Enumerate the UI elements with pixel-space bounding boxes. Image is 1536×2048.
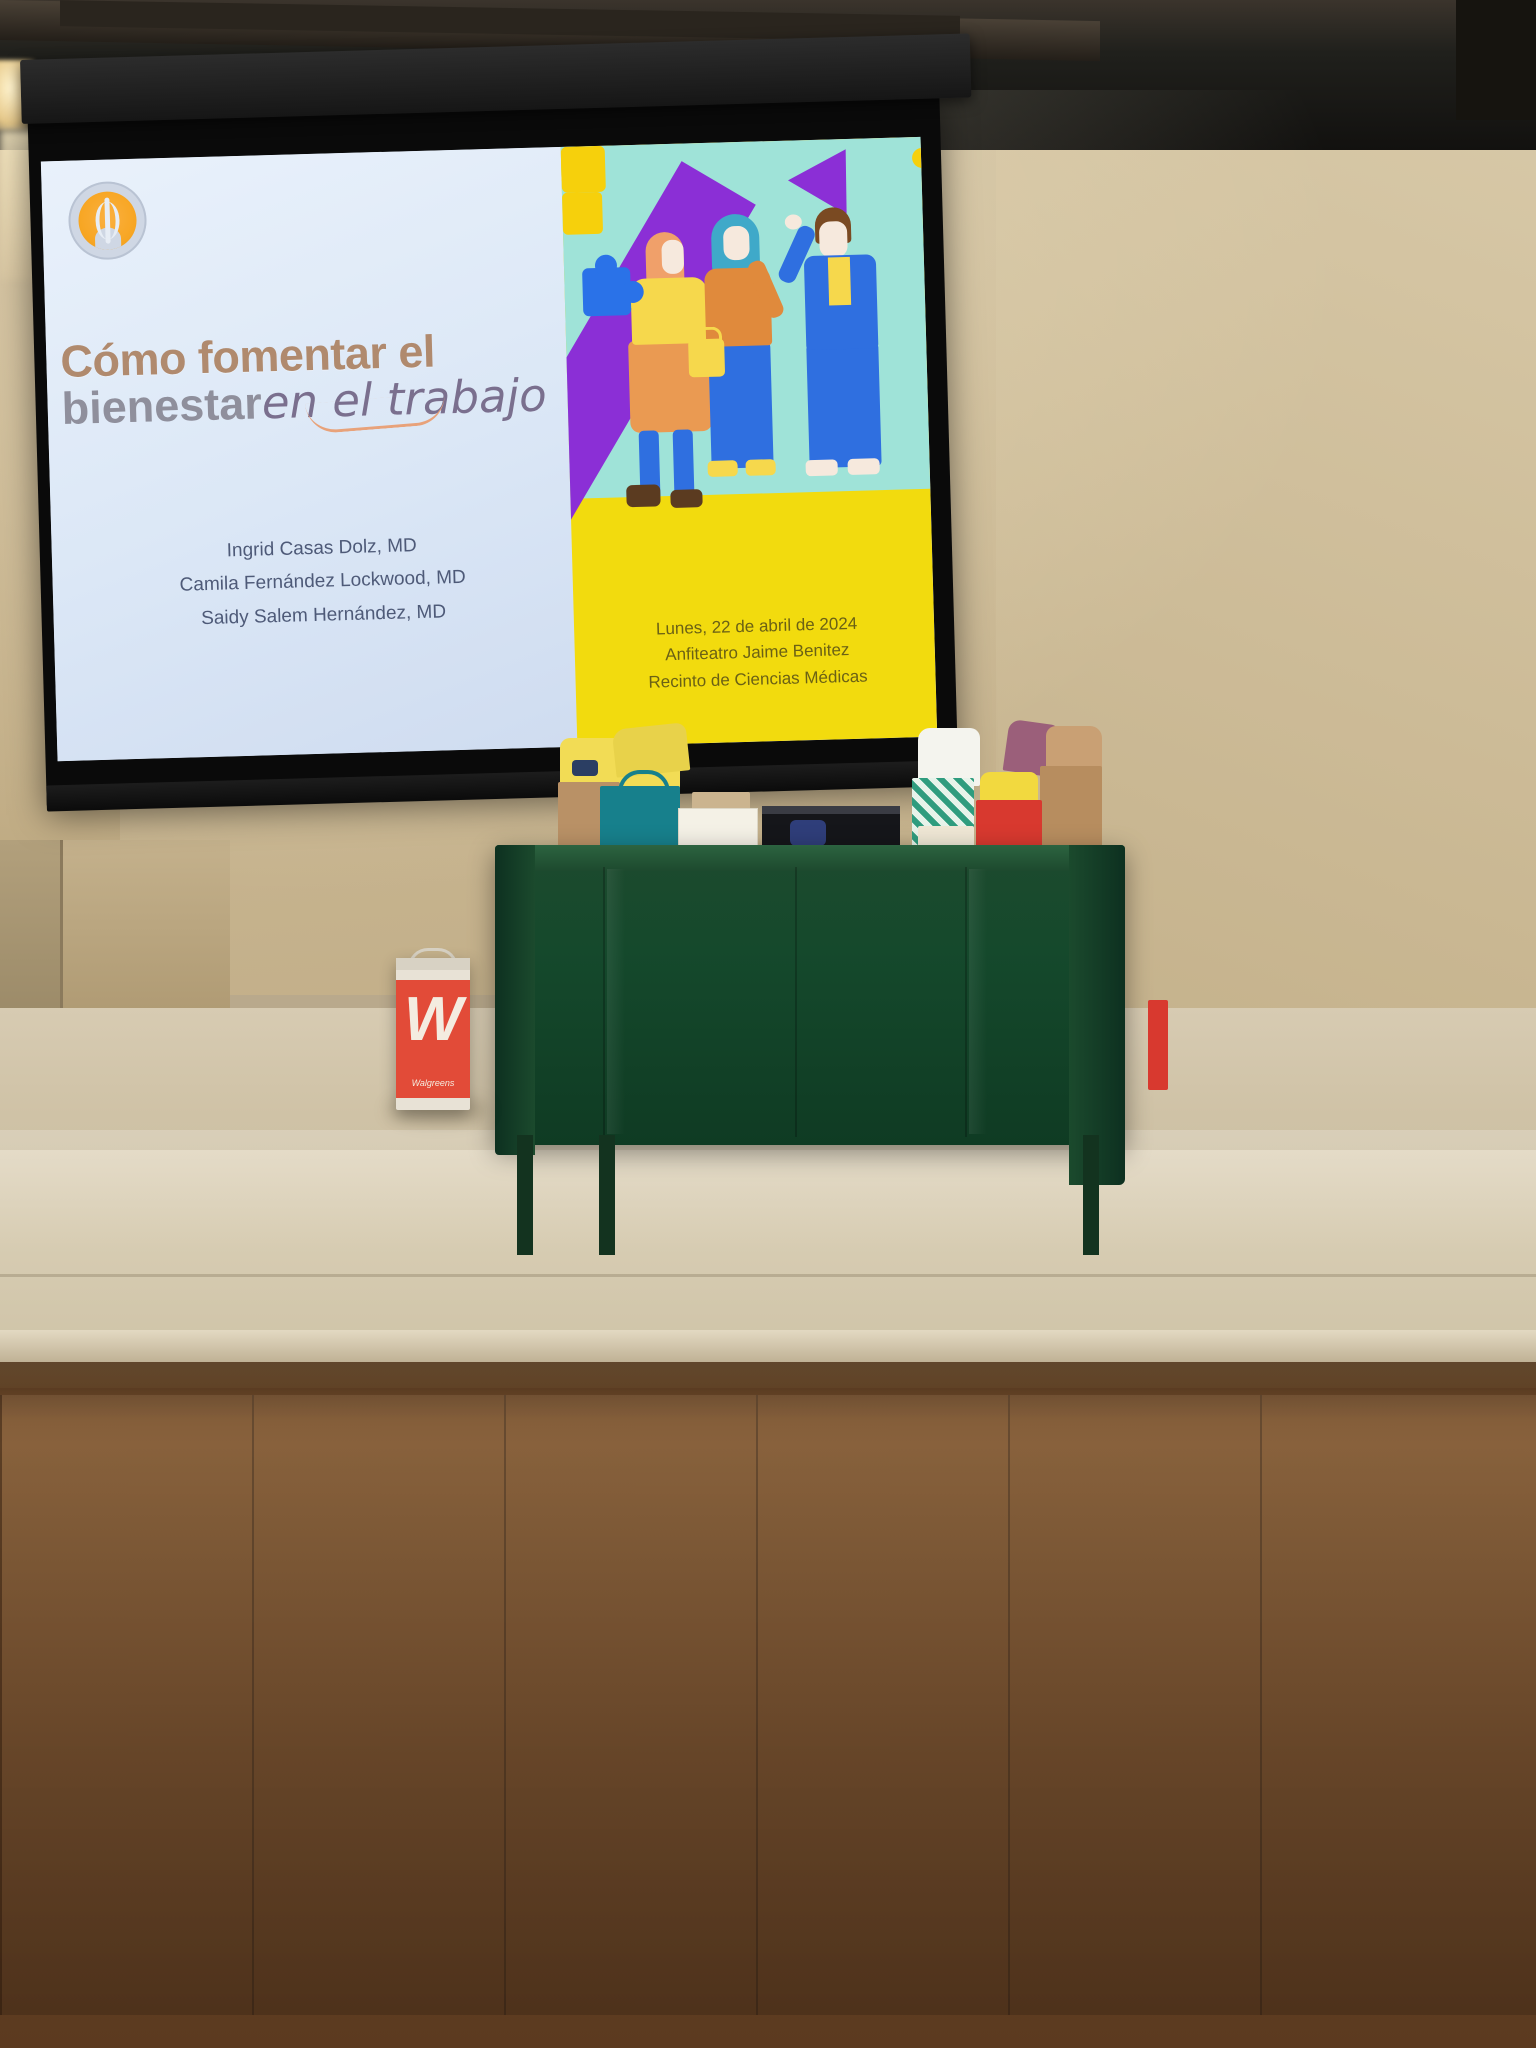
black-gift-box-lid (762, 806, 900, 814)
figure2-face (723, 226, 750, 261)
floor-seam-line (0, 1274, 1536, 1277)
slide-title: Cómo fomentar el bienestaren el trabajo (60, 326, 532, 431)
seal-inner (78, 191, 138, 251)
table-cloth-top (495, 845, 1125, 871)
cloth-fold (965, 867, 967, 1137)
walgreens-bag-top (396, 958, 470, 970)
figure2-shoe-left (707, 460, 737, 477)
wood-panel-6 (1260, 1395, 1536, 2015)
cloth-right-drape (1069, 845, 1125, 1185)
slide-event-details: Lunes, 22 de abril de 2024 Anfiteatro Ja… (584, 609, 931, 698)
table-leg-right (1083, 1135, 1099, 1255)
puzzle-piece-yellow-icon (561, 146, 606, 193)
table-leg-left-2 (599, 1135, 615, 1255)
purple-arrow-head (788, 137, 875, 215)
figure1-boot-left (626, 484, 661, 507)
cloth-left-drape (495, 845, 535, 1155)
side-door[interactable] (0, 840, 63, 1020)
figure3-foot-left (805, 459, 837, 476)
presentation-slide: Cómo fomentar el bienestaren el trabajo … (41, 137, 937, 761)
cloth-highlight (607, 869, 625, 1134)
figure2-shoe-right (745, 459, 775, 476)
table-leg-left (517, 1135, 533, 1255)
projection-screen: Cómo fomentar el bienestaren el trabajo … (20, 34, 959, 759)
figure1-boot-right (670, 489, 702, 508)
figure1-face (661, 240, 684, 275)
cloth-fold (795, 867, 797, 1137)
auditorium-scene: Cómo fomentar el bienestaren el trabajo … (0, 0, 1536, 2048)
walgreens-logo-icon: W (404, 992, 462, 1072)
cloth-fold (603, 867, 605, 1137)
walgreens-wordmark: Walgreens (396, 1078, 470, 1088)
navy-ribbon-bow (572, 760, 598, 776)
red-item-on-floor (1148, 1000, 1168, 1090)
puzzle-piece-blue-icon (582, 267, 631, 316)
table-cloth (495, 845, 1125, 1145)
figure3-pants (806, 342, 881, 468)
figure2-handbag (688, 338, 725, 377)
figure3-face (819, 221, 848, 258)
wood-panel-3 (504, 1395, 758, 2015)
wood-panel-5 (1008, 1395, 1262, 2015)
wood-panel-4 (756, 1395, 1010, 2015)
title-line-2: bienestaren el trabajo (61, 373, 532, 431)
title-bienestar: bienestar (61, 377, 262, 434)
blue-ribbon-bow (790, 820, 826, 846)
cloth-highlight (969, 869, 987, 1134)
figure3-shirt (828, 257, 851, 306)
gift-table (495, 845, 1125, 1175)
figure3-foot-right (847, 458, 879, 475)
wood-panel-1 (0, 1395, 254, 2015)
wood-panel-2 (252, 1395, 506, 2015)
puzzle-piece-yellow-small-icon (562, 192, 603, 235)
slide-authors: Ingrid Casas Dolz, MD Camila Fernández L… (111, 526, 534, 637)
